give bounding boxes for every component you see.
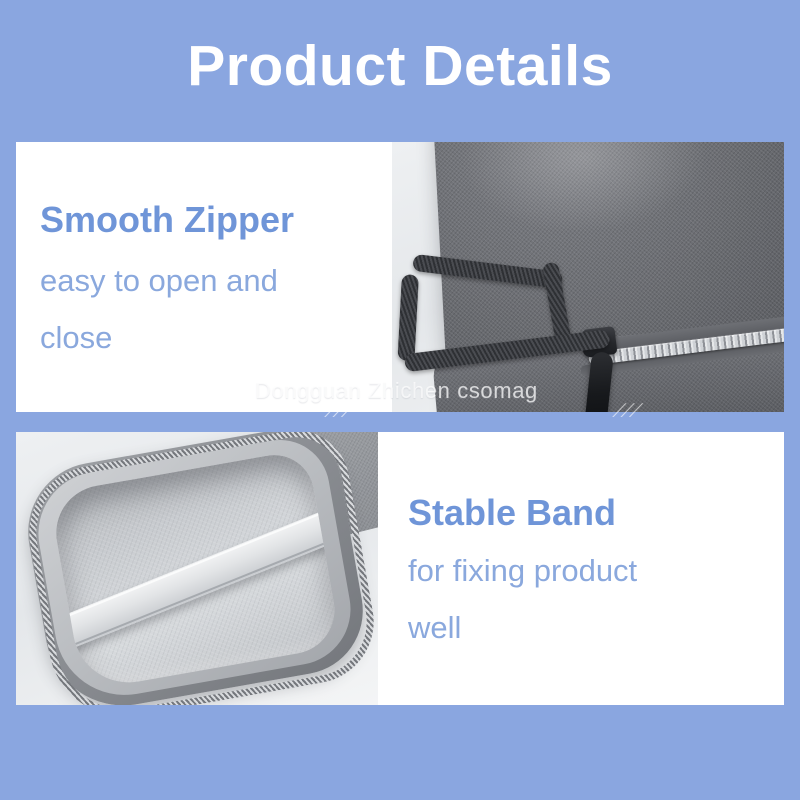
- feature-text-stable-band: Stable Band for fixing product well: [378, 432, 784, 705]
- feature-body-line-3: for fixing product: [408, 555, 784, 586]
- feature-body-line-1: easy to open and: [40, 265, 392, 296]
- feature-row-stable-band: Stable Band for fixing product well: [16, 432, 784, 705]
- case-interior-photo: [16, 432, 378, 705]
- handle-strap-bottom: [404, 329, 611, 372]
- page-title: Product Details: [0, 26, 800, 106]
- feature-headline-smooth-zipper: Smooth Zipper: [40, 201, 392, 239]
- feature-body-line-4: well: [408, 612, 784, 643]
- feature-row-smooth-zipper: Smooth Zipper easy to open and close: [16, 142, 784, 412]
- feature-body-line-2: close: [40, 322, 392, 353]
- feature-text-smooth-zipper: Smooth Zipper easy to open and close: [16, 142, 392, 412]
- handle-strap: [394, 253, 612, 385]
- page-title-text: Product Details: [187, 38, 613, 95]
- zipper-case-photo: [392, 142, 784, 412]
- case-interior-group: [30, 440, 374, 702]
- feature-headline-stable-band: Stable Band: [408, 494, 784, 532]
- product-details-page: Product Details Smooth Zipper easy to op…: [0, 0, 800, 800]
- handle-strap-left: [397, 274, 418, 361]
